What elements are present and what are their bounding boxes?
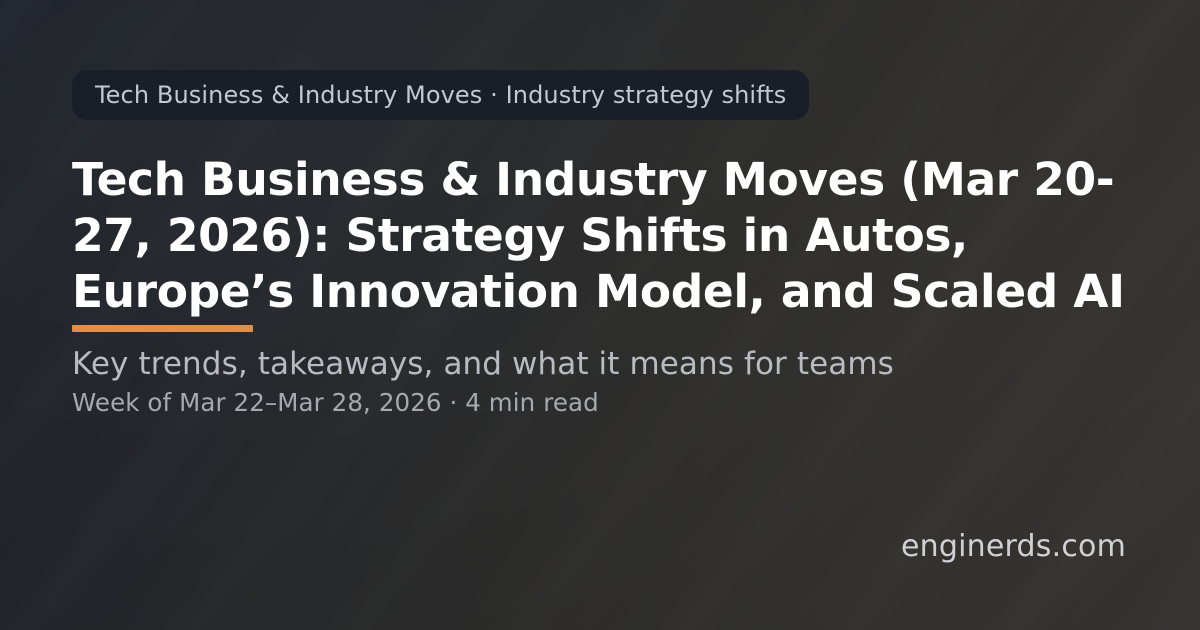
- subtitle: Key trends, takeaways, and what it means…: [72, 344, 894, 384]
- site-domain: enginerds.com: [901, 528, 1126, 566]
- accent-rule: [72, 325, 253, 332]
- card-content: Tech Business & Industry Moves · Industr…: [0, 0, 1200, 630]
- social-share-card: Tech Business & Industry Moves · Industr…: [0, 0, 1200, 630]
- page-title: Tech Business & Industry Moves (Mar 20-2…: [72, 152, 1147, 320]
- category-badge: Tech Business & Industry Moves · Industr…: [72, 70, 809, 120]
- meta-line: Week of Mar 22–Mar 28, 2026 · 4 min read: [72, 387, 599, 419]
